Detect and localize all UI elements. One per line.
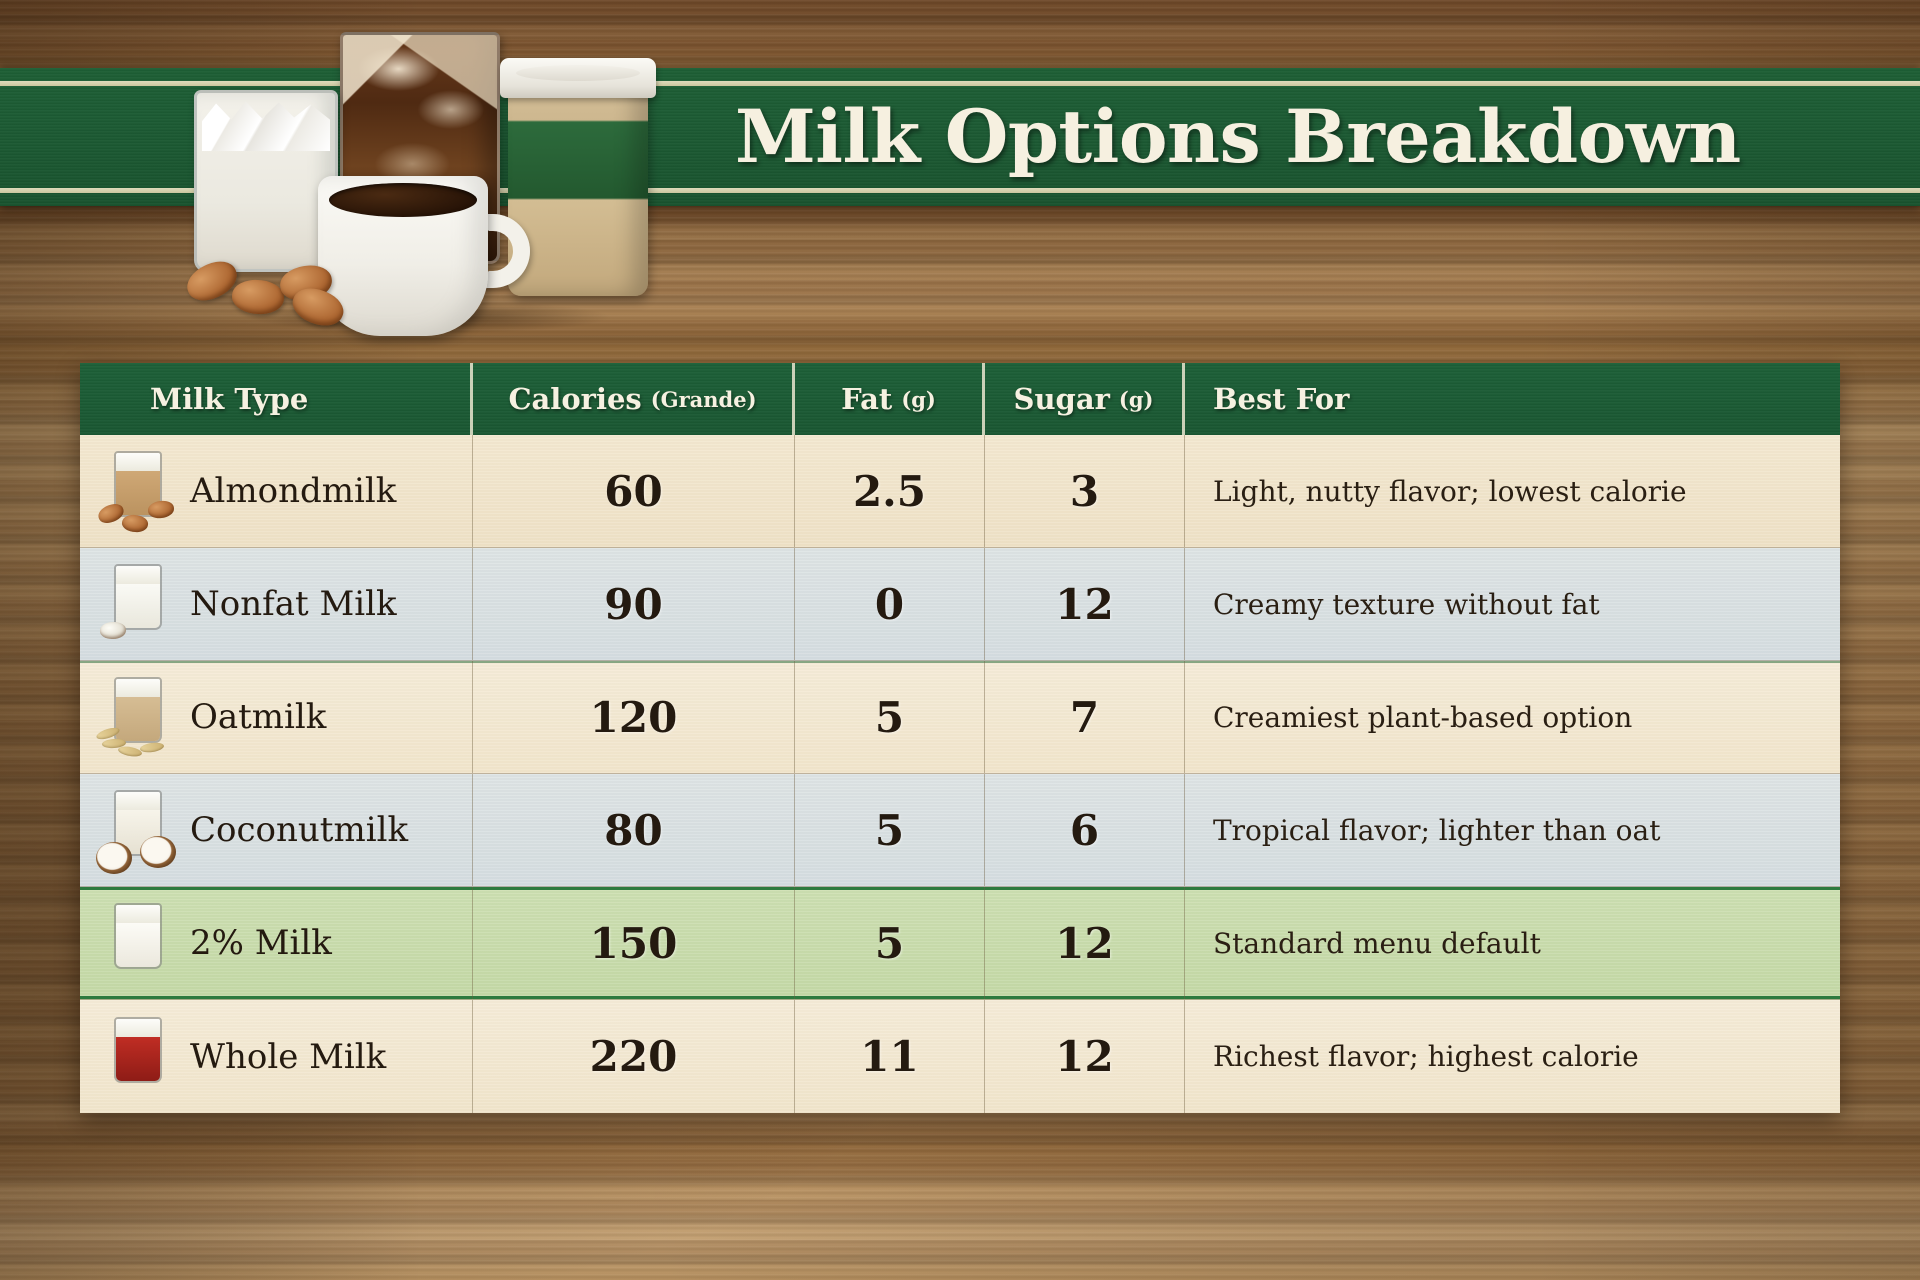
sugar-value: 3 bbox=[985, 467, 1184, 516]
table-row: Coconutmilk 80 5 6 Tropical flavor; ligh… bbox=[80, 774, 1840, 887]
column-header-label: Best For bbox=[1213, 382, 1349, 416]
table-row: Nonfat Milk 90 0 12 Creamy texture witho… bbox=[80, 548, 1840, 661]
column-header-sugar: Sugar (g) bbox=[985, 363, 1185, 435]
cell-calories: 80 bbox=[473, 774, 795, 886]
milk-type-label: Whole Milk bbox=[190, 1037, 386, 1077]
glass-liquid bbox=[116, 584, 160, 628]
cell-sugar: 6 bbox=[985, 774, 1185, 886]
cell-best-for: Creamy texture without fat bbox=[1185, 548, 1840, 660]
column-header-label: Fat bbox=[841, 382, 892, 416]
glass-foam bbox=[116, 905, 160, 923]
milk-glass-icon bbox=[194, 90, 338, 272]
cell-best-for: Standard menu default bbox=[1185, 887, 1840, 999]
cell-best-for: Richest flavor; highest calorie bbox=[1185, 1000, 1840, 1113]
cell-milk-type: Coconutmilk bbox=[80, 774, 473, 886]
cell-milk-type: 2% Milk bbox=[80, 887, 473, 999]
fat-value: 5 bbox=[795, 693, 984, 742]
whole-milk-glass-icon bbox=[96, 1011, 182, 1103]
cell-fat: 5 bbox=[795, 774, 985, 886]
oat-grain-icon bbox=[139, 741, 164, 753]
fat-value: 2.5 bbox=[795, 467, 984, 516]
glass-liquid bbox=[116, 923, 160, 967]
column-header-fat: Fat (g) bbox=[795, 363, 985, 435]
glass-foam bbox=[116, 792, 160, 810]
calories-value: 150 bbox=[473, 919, 794, 968]
glass-foam bbox=[116, 679, 160, 697]
oatmilk-glass-icon bbox=[96, 671, 182, 763]
sugar-value: 12 bbox=[985, 1032, 1184, 1081]
milk-type-label: Oatmilk bbox=[190, 697, 326, 737]
calories-value: 60 bbox=[473, 467, 794, 516]
cell-sugar: 7 bbox=[985, 661, 1185, 773]
glass-foam bbox=[116, 453, 160, 471]
column-header-best-for: Best For bbox=[1185, 363, 1840, 435]
glass-icon bbox=[114, 1017, 162, 1083]
sugar-value: 6 bbox=[985, 806, 1184, 855]
table-header-row: Milk Type Calories (Grande) Fat (g) Suga… bbox=[80, 363, 1840, 435]
glass-foam bbox=[116, 1019, 160, 1037]
cell-best-for: Tropical flavor; lighter than oat bbox=[1185, 774, 1840, 886]
column-header-milk-type: Milk Type bbox=[80, 363, 473, 435]
cell-calories: 150 bbox=[473, 887, 795, 999]
cell-sugar: 3 bbox=[985, 435, 1185, 547]
best-for-text: Creamiest plant-based option bbox=[1185, 701, 1840, 734]
best-for-text: Tropical flavor; lighter than oat bbox=[1185, 814, 1840, 847]
coconut-half-icon bbox=[96, 842, 132, 874]
almondmilk-glass-icon bbox=[96, 445, 182, 537]
coconut-half-icon bbox=[140, 836, 176, 868]
fat-value: 11 bbox=[795, 1032, 984, 1081]
coffee-surface-icon bbox=[329, 183, 477, 217]
glass-liquid bbox=[116, 1037, 160, 1081]
cell-milk-type: Nonfat Milk bbox=[80, 548, 473, 660]
cell-fat: 0 bbox=[795, 548, 985, 660]
beverage-illustration bbox=[180, 18, 700, 348]
page-title: Milk Options Breakdown bbox=[735, 94, 1741, 180]
column-header-unit: (g) bbox=[901, 387, 936, 412]
column-header-label: Calories bbox=[508, 382, 641, 416]
milk-type-label: Coconutmilk bbox=[190, 810, 408, 850]
glass-liquid bbox=[116, 697, 160, 741]
glass-foam bbox=[116, 566, 160, 584]
cell-milk-type: Almondmilk bbox=[80, 435, 473, 547]
cell-sugar: 12 bbox=[985, 887, 1185, 999]
sugar-value: 12 bbox=[985, 919, 1184, 968]
to-go-cup-icon bbox=[508, 74, 648, 296]
table-row: Almondmilk 60 2.5 3 Light, nutty flavor;… bbox=[80, 435, 1840, 548]
cell-best-for: Creamiest plant-based option bbox=[1185, 661, 1840, 773]
milk-options-table: Milk Type Calories (Grande) Fat (g) Suga… bbox=[80, 363, 1840, 1113]
cell-fat: 2.5 bbox=[795, 435, 985, 547]
cell-best-for: Light, nutty flavor; lowest calorie bbox=[1185, 435, 1840, 547]
fat-value: 5 bbox=[795, 806, 984, 855]
cell-calories: 120 bbox=[473, 661, 795, 773]
milk-type-label: Almondmilk bbox=[190, 471, 396, 511]
two-percent-milk-glass-icon bbox=[96, 897, 182, 989]
sugar-value: 7 bbox=[985, 693, 1184, 742]
cell-fat: 5 bbox=[795, 661, 985, 773]
table-row: Whole Milk 220 11 12 Richest flavor; hig… bbox=[80, 1000, 1840, 1113]
cell-milk-type: Whole Milk bbox=[80, 1000, 473, 1113]
table-row-highlighted: 2% Milk 150 5 12 Standard menu default bbox=[80, 887, 1840, 1000]
cell-fat: 11 bbox=[795, 1000, 985, 1113]
milk-splash-icon bbox=[100, 622, 126, 639]
best-for-text: Standard menu default bbox=[1185, 927, 1840, 960]
cell-sugar: 12 bbox=[985, 1000, 1185, 1113]
cell-calories: 60 bbox=[473, 435, 795, 547]
coconutmilk-glass-icon bbox=[96, 784, 182, 876]
calories-value: 120 bbox=[473, 693, 794, 742]
to-go-cup-lid-icon bbox=[500, 58, 656, 98]
table-row: Oatmilk 120 5 7 Creamiest plant-based op… bbox=[80, 661, 1840, 774]
column-header-unit: (g) bbox=[1119, 387, 1154, 412]
column-header-label: Milk Type bbox=[150, 382, 308, 416]
column-header-unit: (Grande) bbox=[651, 387, 757, 412]
milk-type-label: Nonfat Milk bbox=[190, 584, 397, 624]
cell-sugar: 12 bbox=[985, 548, 1185, 660]
column-header-calories: Calories (Grande) bbox=[473, 363, 795, 435]
glass-icon bbox=[114, 903, 162, 969]
milk-type-label: 2% Milk bbox=[190, 923, 332, 963]
fat-value: 0 bbox=[795, 580, 984, 629]
best-for-text: Creamy texture without fat bbox=[1185, 588, 1840, 621]
cell-milk-type: Oatmilk bbox=[80, 661, 473, 773]
nonfat-milk-glass-icon bbox=[96, 558, 182, 650]
sugar-value: 12 bbox=[985, 580, 1184, 629]
cell-calories: 90 bbox=[473, 548, 795, 660]
calories-value: 90 bbox=[473, 580, 794, 629]
calories-value: 220 bbox=[473, 1032, 794, 1081]
calories-value: 80 bbox=[473, 806, 794, 855]
glass-icon bbox=[114, 564, 162, 630]
oat-grain-icon bbox=[117, 745, 142, 758]
cell-calories: 220 bbox=[473, 1000, 795, 1113]
fat-value: 5 bbox=[795, 919, 984, 968]
almond-icon bbox=[147, 500, 174, 519]
column-header-label: Sugar bbox=[1014, 382, 1110, 416]
milk-glass-ice-icon bbox=[202, 97, 330, 151]
best-for-text: Light, nutty flavor; lowest calorie bbox=[1185, 475, 1840, 508]
best-for-text: Richest flavor; highest calorie bbox=[1185, 1040, 1840, 1073]
cell-fat: 5 bbox=[795, 887, 985, 999]
glass-icon bbox=[114, 677, 162, 743]
